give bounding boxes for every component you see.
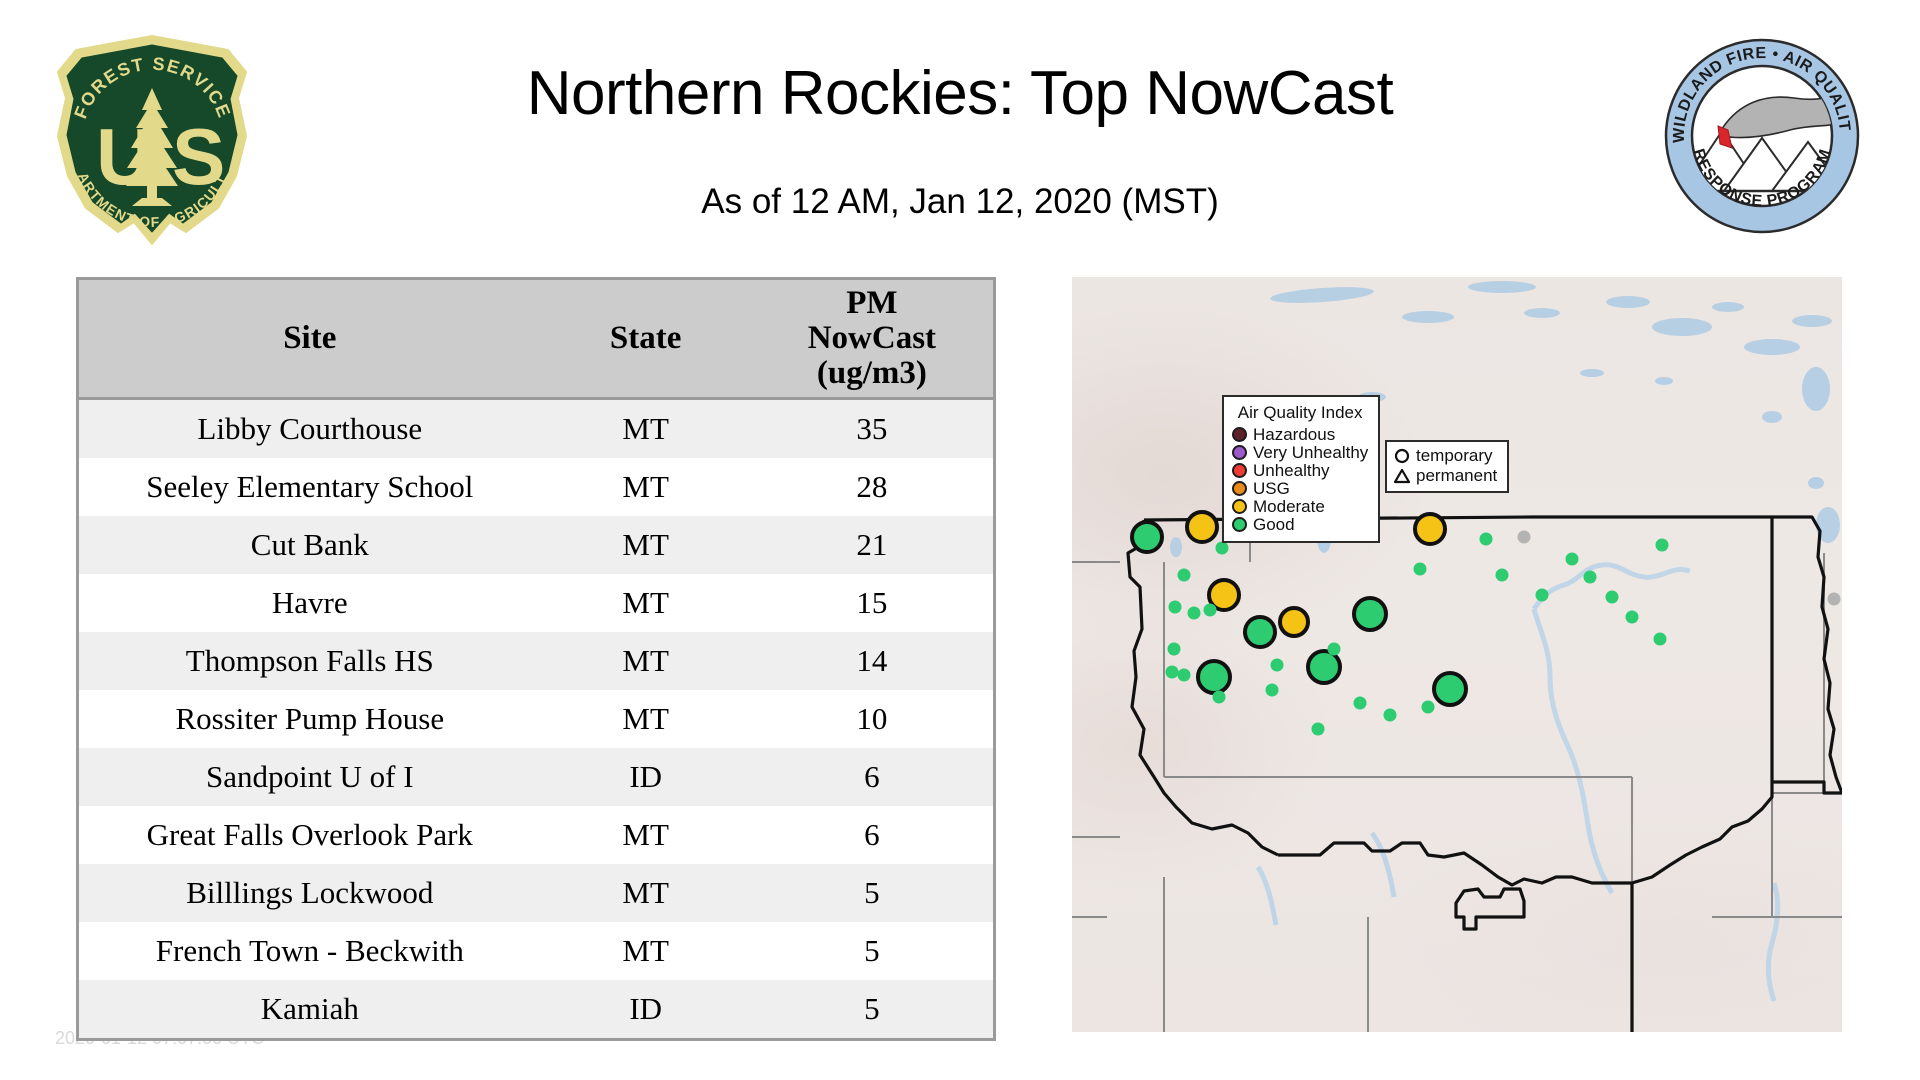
- column-header-pm-nowcast[interactable]: PM NowCast (ug/m3): [751, 280, 993, 398]
- site-state: MT: [541, 922, 751, 980]
- aqi-legend-item: USG: [1232, 480, 1368, 497]
- site-pm-nowcast: 21: [751, 516, 993, 574]
- table-row[interactable]: Billlings LockwoodMT5: [79, 864, 993, 922]
- site-type-label: temporary: [1416, 447, 1497, 465]
- site-pm-nowcast: 10: [751, 690, 993, 748]
- permanent-site-icon: [1393, 467, 1411, 485]
- aqi-legend: Air Quality Index HazardousVery Unhealth…: [1222, 395, 1380, 543]
- table-row[interactable]: Seeley Elementary SchoolMT28: [79, 458, 993, 516]
- table-row[interactable]: Great Falls Overlook ParkMT6: [79, 806, 993, 864]
- aqi-legend-swatch: [1232, 427, 1247, 442]
- table-row[interactable]: Cut BankMT21: [79, 516, 993, 574]
- table-row[interactable]: Thompson Falls HSMT14: [79, 632, 993, 690]
- column-header-site[interactable]: Site: [79, 280, 541, 398]
- nowcast-table-container: Site State PM NowCast (ug/m3) Libby Cour…: [76, 277, 996, 1041]
- map-small-site-marker[interactable]: [1480, 533, 1493, 546]
- site-name: Seeley Elementary School: [79, 458, 541, 516]
- map-small-site-marker[interactable]: [1271, 659, 1284, 672]
- column-header-line-3: (ug/m3): [751, 356, 993, 391]
- nowcast-table: Site State PM NowCast (ug/m3) Libby Cour…: [79, 280, 993, 1038]
- site-name: Sandpoint U of I: [79, 748, 541, 806]
- usfs-logo: FOREST SERVICE U S DEPARTMENT OF AGRICUL…: [50, 26, 255, 256]
- site-name: Rossiter Pump House: [79, 690, 541, 748]
- map-monitor-marker[interactable]: [1280, 608, 1308, 636]
- site-state: MT: [541, 398, 751, 458]
- map-small-site-marker[interactable]: [1168, 643, 1181, 656]
- table-header: Site State PM NowCast (ug/m3): [79, 280, 993, 398]
- map-small-site-marker[interactable]: [1312, 723, 1325, 736]
- table-row[interactable]: HavreMT15: [79, 574, 993, 632]
- aqi-legend-label: Good: [1253, 516, 1295, 533]
- aqi-legend-item: Very Unhealthy: [1232, 444, 1368, 461]
- aqi-legend-label: Moderate: [1253, 498, 1325, 515]
- map-monitor-marker[interactable]: [1245, 617, 1275, 647]
- map-small-site-marker[interactable]: [1536, 589, 1549, 602]
- table-row[interactable]: Rossiter Pump HouseMT10: [79, 690, 993, 748]
- map-monitor-marker[interactable]: [1187, 512, 1217, 542]
- site-pm-nowcast: 35: [751, 398, 993, 458]
- aqi-legend-label: Hazardous: [1253, 426, 1335, 443]
- site-name: Kamiah: [79, 980, 541, 1038]
- page-title: Northern Rockies: Top NowCast: [300, 58, 1620, 129]
- map-monitor-marker[interactable]: [1354, 598, 1386, 630]
- map-monitor-marker[interactable]: [1308, 651, 1340, 683]
- map-small-site-marker[interactable]: [1328, 643, 1341, 656]
- site-type-labels: temporarypermanent: [1416, 447, 1497, 485]
- site-state: MT: [541, 864, 751, 922]
- map-small-site-marker[interactable]: [1216, 542, 1229, 555]
- site-pm-nowcast: 5: [751, 980, 993, 1038]
- column-header-line-1: PM: [751, 286, 993, 321]
- aqi-legend-label: Very Unhealthy: [1253, 444, 1368, 461]
- site-type-label: permanent: [1416, 467, 1497, 485]
- site-pm-nowcast: 6: [751, 806, 993, 864]
- air-quality-map[interactable]: [1072, 277, 1842, 1032]
- site-name: Libby Courthouse: [79, 398, 541, 458]
- page-subtitle: As of 12 AM, Jan 12, 2020 (MST): [300, 182, 1620, 222]
- map-small-site-marker[interactable]: [1654, 633, 1667, 646]
- site-state: MT: [541, 632, 751, 690]
- map-small-site-marker[interactable]: [1266, 684, 1279, 697]
- map-small-site-marker[interactable]: [1354, 697, 1367, 710]
- site-name: French Town - Beckwith: [79, 922, 541, 980]
- map-small-site-marker[interactable]: [1384, 709, 1397, 722]
- map-small-site-marker[interactable]: [1606, 591, 1619, 604]
- map-small-site-marker[interactable]: [1584, 571, 1597, 584]
- aqi-legend-title: Air Quality Index: [1232, 403, 1368, 423]
- map-monitor-marker[interactable]: [1415, 514, 1445, 544]
- site-name: Cut Bank: [79, 516, 541, 574]
- site-state: MT: [541, 574, 751, 632]
- table-header-row: Site State PM NowCast (ug/m3): [79, 280, 993, 398]
- aqi-legend-item: Moderate: [1232, 498, 1368, 515]
- map-small-site-marker[interactable]: [1828, 593, 1841, 606]
- aqi-legend-item: Unhealthy: [1232, 462, 1368, 479]
- table-row[interactable]: Sandpoint U of IID6: [79, 748, 993, 806]
- aqi-legend-label: Unhealthy: [1253, 462, 1330, 479]
- map-small-site-marker[interactable]: [1626, 611, 1639, 624]
- site-pm-nowcast: 5: [751, 922, 993, 980]
- site-state: MT: [541, 458, 751, 516]
- site-state: MT: [541, 690, 751, 748]
- map-small-site-marker[interactable]: [1178, 569, 1191, 582]
- site-type-legend: temporarypermanent: [1385, 440, 1509, 493]
- site-state: ID: [541, 748, 751, 806]
- map-small-site-marker[interactable]: [1656, 539, 1669, 552]
- table-row[interactable]: KamiahID5: [79, 980, 993, 1038]
- map-small-site-marker[interactable]: [1204, 604, 1217, 617]
- site-name: Great Falls Overlook Park: [79, 806, 541, 864]
- aqi-legend-swatch: [1232, 481, 1247, 496]
- aqi-legend-swatch: [1232, 517, 1247, 532]
- map-state-boundaries-secondary: [1072, 517, 1842, 1032]
- map-small-site-marker[interactable]: [1169, 601, 1182, 614]
- map-rivers: [1258, 565, 1778, 1001]
- wfaqrp-logo: WILDLAND FIRE • AIR QUALITY RESPONSE PRO…: [1662, 36, 1862, 236]
- site-state: MT: [541, 806, 751, 864]
- aqi-legend-swatch: [1232, 499, 1247, 514]
- table-row[interactable]: Libby CourthouseMT35: [79, 398, 993, 458]
- temporary-site-icon: [1393, 447, 1411, 465]
- aqi-legend-label: USG: [1253, 480, 1290, 497]
- aqi-legend-rows: HazardousVery UnhealthyUnhealthyUSGModer…: [1232, 426, 1368, 533]
- map-small-site-marker[interactable]: [1422, 701, 1435, 714]
- site-pm-nowcast: 5: [751, 864, 993, 922]
- map-small-site-marker[interactable]: [1566, 553, 1579, 566]
- map-small-site-marker[interactable]: [1213, 691, 1226, 704]
- map-small-site-marker[interactable]: [1166, 666, 1179, 679]
- site-name: Havre: [79, 574, 541, 632]
- map-small-site-marker[interactable]: [1178, 669, 1191, 682]
- map-small-site-marker[interactable]: [1188, 607, 1201, 620]
- map-small-site-marker[interactable]: [1518, 531, 1531, 544]
- site-pm-nowcast: 28: [751, 458, 993, 516]
- site-type-glyphs: [1393, 447, 1411, 485]
- aqi-legend-item: Good: [1232, 516, 1368, 533]
- site-state: ID: [541, 980, 751, 1038]
- map-monitor-marker[interactable]: [1132, 522, 1162, 552]
- site-state: MT: [541, 516, 751, 574]
- column-header-state[interactable]: State: [541, 280, 751, 398]
- site-name: Thompson Falls HS: [79, 632, 541, 690]
- column-header-line-2: NowCast: [751, 321, 993, 356]
- map-monitor-marker[interactable]: [1434, 673, 1466, 705]
- map-canvas: [1072, 277, 1842, 1032]
- map-small-site-marker[interactable]: [1496, 569, 1509, 582]
- site-pm-nowcast: 15: [751, 574, 993, 632]
- aqi-legend-item: Hazardous: [1232, 426, 1368, 443]
- table-body: Libby CourthouseMT35Seeley Elementary Sc…: [79, 398, 993, 1038]
- map-monitor-marker[interactable]: [1198, 661, 1230, 693]
- site-pm-nowcast: 6: [751, 748, 993, 806]
- table-row[interactable]: French Town - BeckwithMT5: [79, 922, 993, 980]
- map-small-site-marker[interactable]: [1414, 563, 1427, 576]
- aqi-legend-swatch: [1232, 445, 1247, 460]
- site-name: Billlings Lockwood: [79, 864, 541, 922]
- site-pm-nowcast: 14: [751, 632, 993, 690]
- aqi-legend-swatch: [1232, 463, 1247, 478]
